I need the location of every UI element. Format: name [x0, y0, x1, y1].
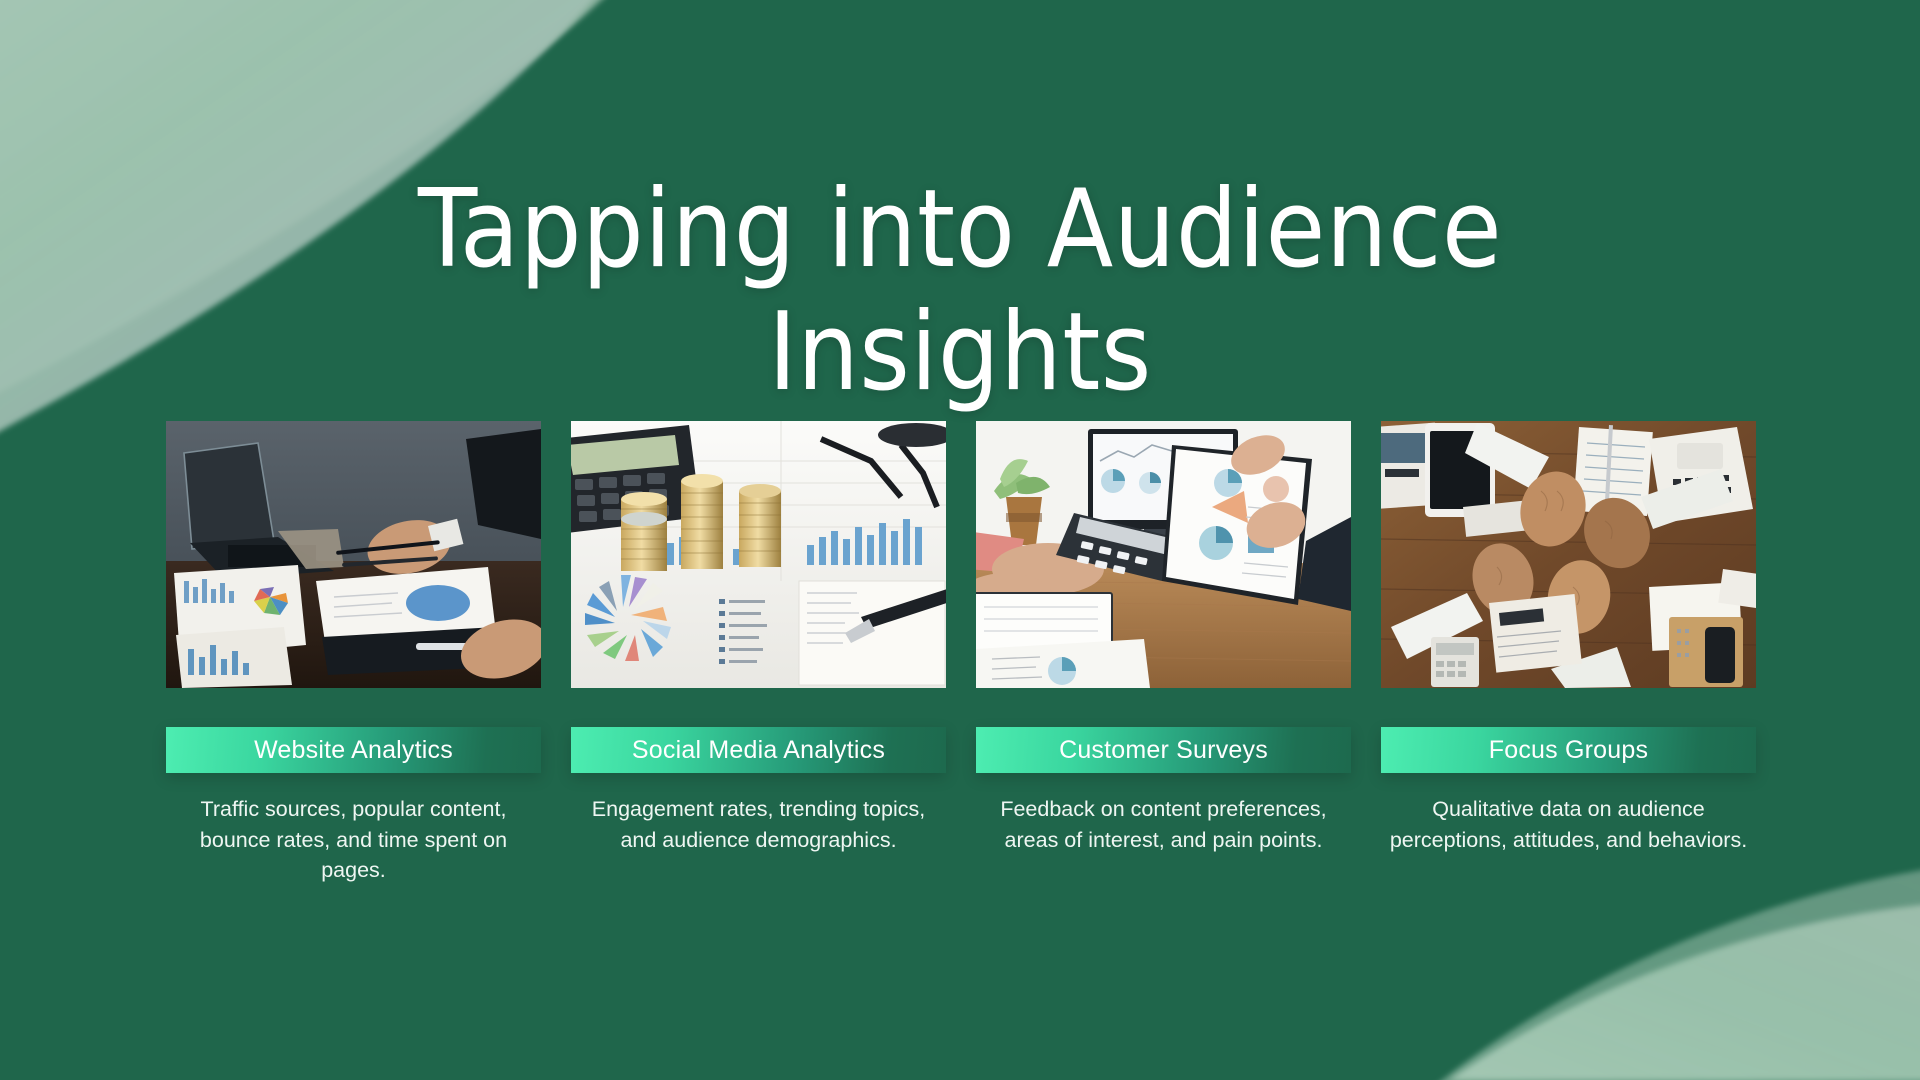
card-website-analytics[interactable]: Website Analytics Traffic sources, popul… — [166, 421, 541, 886]
card-label-social-media-analytics[interactable]: Social Media Analytics — [571, 727, 946, 773]
slide-content: Tapping into Audience Insights — [0, 0, 1920, 1080]
meeting-reports-illustration — [976, 421, 1351, 688]
photo-calculator-coins-pie-chart — [571, 421, 946, 688]
card-label-focus-groups[interactable]: Focus Groups — [1381, 727, 1756, 773]
card-description-website-analytics: Traffic sources, popular content, bounce… — [166, 794, 541, 886]
laptop-and-charts-illustration — [166, 421, 541, 688]
card-description-social-media-analytics: Engagement rates, trending topics, and a… — [571, 794, 946, 855]
card-label-website-analytics[interactable]: Website Analytics — [166, 727, 541, 773]
photo-meeting-with-reports — [976, 421, 1351, 688]
card-grid: Website Analytics Traffic sources, popul… — [166, 421, 1768, 886]
calculator-coins-illustration — [571, 421, 946, 688]
card-social-media-analytics[interactable]: Social Media Analytics Engagement rates,… — [571, 421, 946, 886]
card-label-customer-surveys[interactable]: Customer Surveys — [976, 727, 1351, 773]
team-fist-bump-illustration — [1381, 421, 1756, 688]
card-description-customer-surveys: Feedback on content preferences, areas o… — [976, 794, 1351, 855]
card-focus-groups[interactable]: Focus Groups Qualitative data on audienc… — [1381, 421, 1756, 886]
card-description-focus-groups: Qualitative data on audience perceptions… — [1381, 794, 1756, 855]
page-title: Tapping into Audience Insights — [260, 168, 1660, 414]
photo-team-fist-bump — [1381, 421, 1756, 688]
photo-laptop-and-charts — [166, 421, 541, 688]
card-customer-surveys[interactable]: Customer Surveys Feedback on content pre… — [976, 421, 1351, 886]
